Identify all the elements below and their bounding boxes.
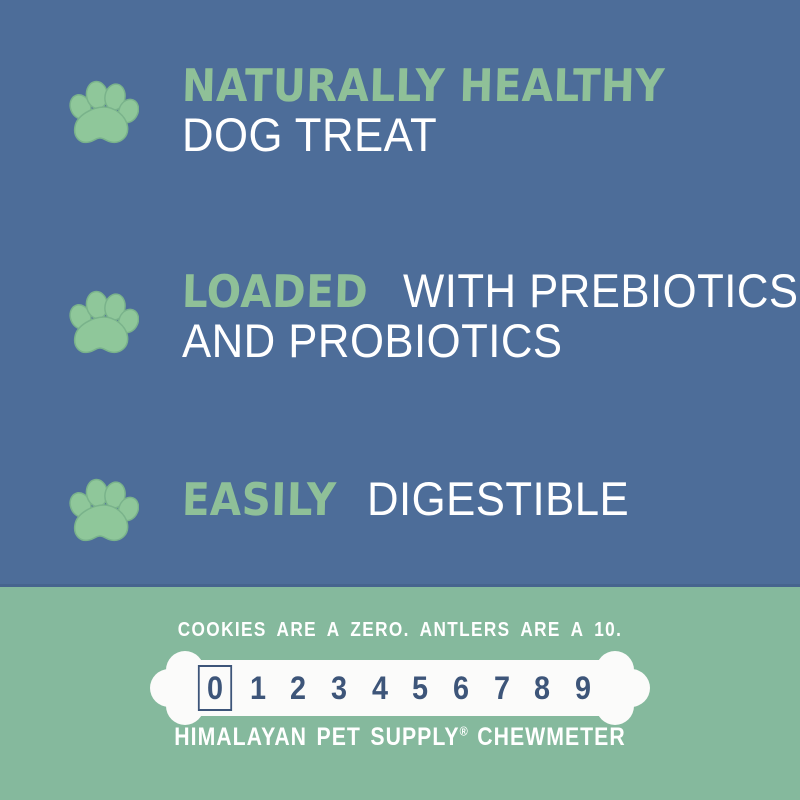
scale-digit[interactable]: 9 <box>568 672 599 704</box>
footer-suffix: CHEWMETER <box>477 723 625 751</box>
paw-print-icon-svg <box>67 290 139 358</box>
scale-digit[interactable]: 7 <box>486 672 517 704</box>
scale-digit[interactable]: 8 <box>527 672 558 704</box>
feature-line-plain-1: DOG TREAT <box>182 110 719 160</box>
plain-text: WITH PREBIOTICS <box>403 266 799 316</box>
feature-line-1: EASILYDIGESTIBLE <box>182 474 649 524</box>
paw-print-icon <box>60 478 146 546</box>
registered-trademark-icon: ® <box>460 724 468 739</box>
scale-digit[interactable]: 3 <box>324 672 355 704</box>
promo-graphic: NATURALLY HEALTHY DOG TREAT LOADEDWITH <box>0 0 800 800</box>
scale-digit[interactable]: 4 <box>364 672 395 704</box>
feature-line-2: AND PROBIOTICS <box>182 316 800 366</box>
feature-text-block: LOADEDWITH PREBIOTICS AND PROBIOTICS <box>146 266 800 366</box>
footer-brand: HIMALAYAN PET SUPPLY <box>174 723 459 751</box>
accent-text: NATURALLY HEALTHY <box>181 62 665 110</box>
feature-line-accent: NATURALLY HEALTHY <box>182 62 719 110</box>
scale-digit[interactable]: 5 <box>405 672 436 704</box>
feature-row-easily-digestible: EASILYDIGESTIBLE <box>60 474 649 546</box>
scale-digit[interactable]: 2 <box>283 672 314 704</box>
paw-print-icon-svg <box>67 80 139 148</box>
feature-text-block: NATURALLY HEALTHY DOG TREAT <box>146 62 719 160</box>
paw-print-icon <box>60 80 146 148</box>
feature-text-block: EASILYDIGESTIBLE <box>146 474 649 524</box>
scale-digit-selected[interactable]: 0 <box>198 665 232 711</box>
chewmeter-bone-graphic: 0 1 2 3 4 5 6 7 8 9 <box>150 651 650 725</box>
chewmeter-scale: 0 1 2 3 4 5 6 7 8 9 <box>188 660 612 716</box>
scale-digit[interactable]: 1 <box>242 672 273 704</box>
accent-text: LOADED <box>181 268 368 316</box>
plain-text: DIGESTIBLE <box>367 474 629 524</box>
accent-text: EASILY <box>181 476 336 524</box>
scale-digit[interactable]: 6 <box>446 672 477 704</box>
paw-print-icon <box>60 290 146 358</box>
feature-line-1: LOADEDWITH PREBIOTICS <box>182 266 800 316</box>
feature-row-prebiotics-probiotics: LOADEDWITH PREBIOTICS AND PROBIOTICS <box>60 266 800 366</box>
feature-row-naturally-healthy: NATURALLY HEALTHY DOG TREAT <box>60 62 719 160</box>
plain-text: DOG TREAT <box>182 110 437 160</box>
plain-text: AND PROBIOTICS <box>182 316 563 366</box>
chewmeter-footer: HIMALAYAN PET SUPPLY® CHEWMETER <box>60 723 740 752</box>
chewmeter-tagline: COOKIES ARE A ZERO. ANTLERS ARE A 10. <box>56 619 744 642</box>
paw-print-icon-svg <box>67 478 139 546</box>
